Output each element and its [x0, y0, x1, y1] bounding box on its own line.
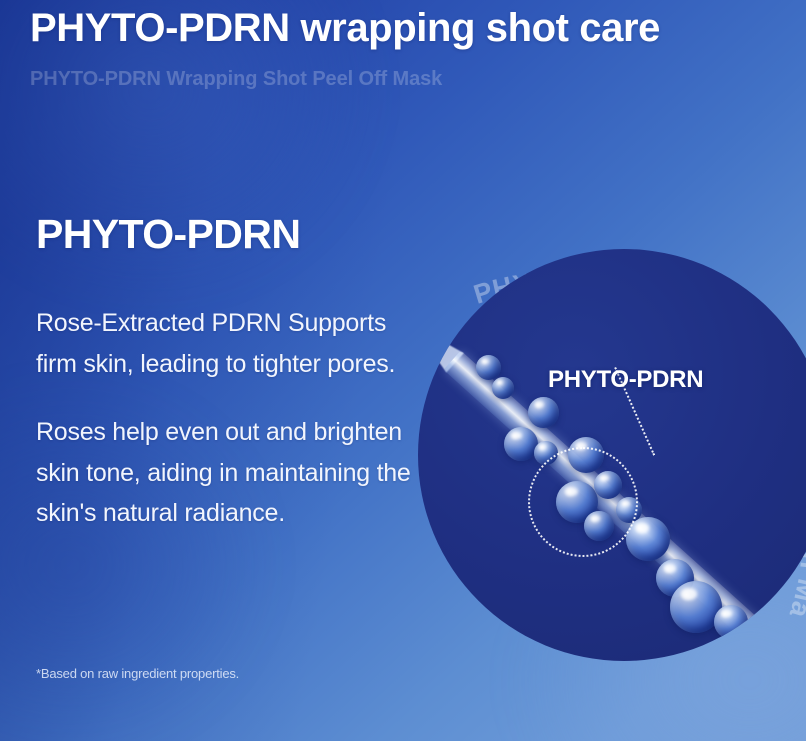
highlight-ring: [528, 447, 638, 557]
copy-block: PHYTO-PDRN Rose-Extracted PDRN Supports …: [36, 212, 426, 534]
page-title: PHYTO-PDRN wrapping shot care: [30, 6, 770, 51]
product-image-clip: [418, 249, 806, 661]
droplet: [714, 605, 748, 639]
benefit-paragraph-1: Rose-Extracted PDRN Supports firm skin, …: [36, 303, 426, 384]
footnote-disclaimer: *Based on raw ingredient properties.: [36, 666, 239, 683]
header: PHYTO-PDRN wrapping shot care PHYTO-PDRN…: [30, 6, 770, 91]
page-subtitle: PHYTO-PDRN Wrapping Shot Peel Off Mask: [30, 67, 770, 91]
droplet: [504, 427, 538, 461]
product-hero-circle: [418, 249, 806, 661]
droplet: [492, 377, 514, 399]
droplet: [528, 397, 559, 428]
benefit-paragraph-2: Roses help even out and brighten skin to…: [36, 412, 426, 534]
ingredient-heading: PHYTO-PDRN: [36, 212, 426, 257]
product-poster: PHYTO-PDRN wrapping shot care PHYTO-PDRN…: [0, 0, 806, 741]
droplet: [476, 355, 501, 380]
product-callout-label: PHYTO-PDRN: [548, 366, 703, 394]
